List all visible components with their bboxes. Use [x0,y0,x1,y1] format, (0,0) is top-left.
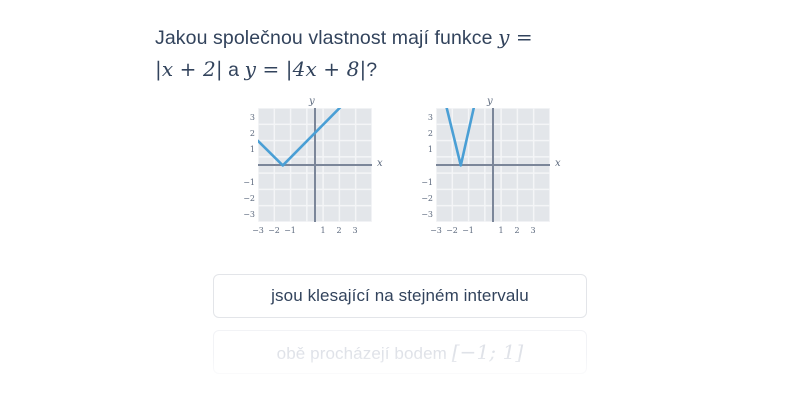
y-tick-1-neg3: −3 [239,210,255,219]
quiz-page: Jakou společnou vlastnost mají funkce y … [0,0,800,400]
y-tick-2-2: 2 [417,129,433,138]
x-tick-1-3: 3 [346,226,364,235]
curve-abs-4x-plus-8 [436,108,550,222]
x-axis-label-1: x [377,158,383,169]
y-tick-2-neg2: −2 [417,194,433,203]
question-line2-suffix: ? [366,59,377,81]
question-line2-math1: |x + 2| [155,57,223,81]
answer-options: jsou klesající na stejném intervalu obě … [0,274,800,386]
question-line1-prefix: Jakou společnou vlastnost mají funkce [155,27,498,49]
y-tick-2-neg1: −1 [417,178,433,187]
x-tick-2-neg1: −1 [459,226,477,235]
graph-abs-x-plus-2: y x −3 −2 −1 1 2 3 3 2 1 −1 −2 −3 [225,96,400,256]
option-label-2-prefix: obě procházejí bodem [277,344,452,363]
y-tick-2-1: 1 [417,145,433,154]
option-label-2-math: [−1; 1] [452,340,524,364]
y-tick-2-neg3: −3 [417,210,433,219]
question-line2-math2: y = |4x + 8| [245,57,367,81]
option-point[interactable]: obě procházejí bodem [−1; 1] [213,330,587,374]
y-tick-1-2: 2 [239,129,255,138]
option-label-1: jsou klesající na stejném intervalu [271,286,529,305]
option-decreasing-interval[interactable]: jsou klesající na stejném intervalu [213,274,587,318]
y-tick-1-3: 3 [239,113,255,122]
x-axis-label-2: x [555,158,561,169]
question-line2-mid: a [223,59,245,81]
y-tick-1-neg2: −2 [239,194,255,203]
y-tick-1-1: 1 [239,145,255,154]
curve-abs-x-plus-2 [258,108,372,222]
plot-area-2 [436,108,550,222]
x-tick-2-3: 3 [524,226,542,235]
y-tick-2-3: 3 [417,113,433,122]
plot-area-1 [258,108,372,222]
y-axis-label-2: y [487,96,493,107]
question-line1-math: y = [498,25,533,49]
question-text: Jakou společnou vlastnost mají funkce y … [155,22,615,86]
y-axis-label-1: y [309,96,315,107]
y-tick-1-neg1: −1 [239,178,255,187]
graph-abs-4x-plus-8: y x −3 −2 −1 1 2 3 3 2 1 −1 −2 −3 [403,96,578,256]
x-tick-1-neg1: −1 [281,226,299,235]
graphs-container: y x −3 −2 −1 1 2 3 3 2 1 −1 −2 −3 [225,96,575,256]
